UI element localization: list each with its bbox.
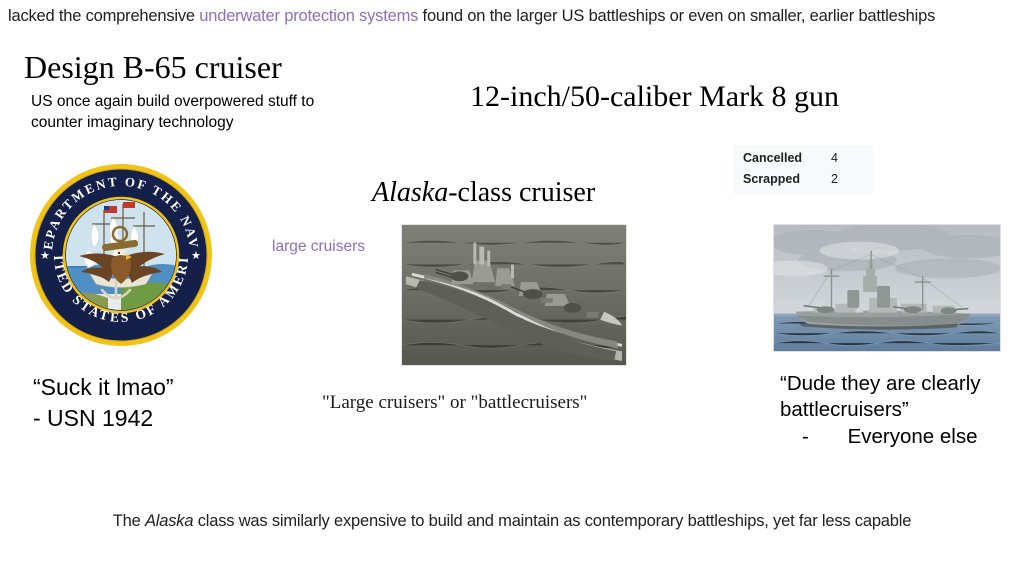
heading-alaska-italic: Alaska: [372, 177, 448, 208]
heading-alaska-rest: -class cruiser: [448, 177, 595, 208]
infobox-table: Cancelled 4 Scrapped 2: [733, 145, 873, 194]
photo-battlecruiser: [773, 224, 1001, 352]
table-row: Cancelled 4: [733, 148, 873, 169]
heading-mark8-gun: 12-inch/50-caliber Mark 8 gun: [470, 79, 839, 115]
wiki-excerpt-before: lacked the comprehensive: [8, 7, 199, 25]
caption-large-cruisers-or-battlecruisers: "Large cruisers" or "battlecruisers": [322, 391, 587, 415]
caption-everyone-else-quote: “Dude they are clearly battlecruisers” -…: [780, 371, 1020, 450]
heading-design-b65: Design B-65 cruiser: [24, 48, 282, 86]
infobox-label-cancelled: Cancelled: [743, 149, 831, 168]
everyone-quote-text: “Dude they are clearly battlecruisers”: [780, 371, 1020, 423]
infobox-value-cancelled: 4: [831, 149, 838, 168]
department-of-the-navy-seal: DEPARTMENT OF THE NAVY UNITED STATES OF …: [28, 162, 214, 348]
caption-usn-quote: “Suck it lmao” - USN 1942: [33, 372, 174, 434]
table-row: Scrapped 2: [733, 169, 873, 190]
infobox-value-scrapped: 2: [831, 170, 838, 189]
caption-bottom-wiki-line: The Alaska class was similarly expensive…: [0, 510, 1024, 532]
bottom-caption-before: The: [113, 512, 145, 530]
bottom-caption-italic: Alaska: [145, 512, 193, 530]
seal-star-right: ★: [191, 250, 201, 262]
meme-slide: lacked the comprehensive underwater prot…: [0, 0, 1024, 563]
heading-alaska-class-cruiser: Alaska-class cruiser: [372, 176, 595, 210]
underwater-protection-systems-link[interactable]: underwater protection systems: [199, 7, 418, 25]
bottom-caption-after: class was similarly expensive to build a…: [193, 512, 911, 530]
everyone-quote-attribution: - Everyone else: [780, 424, 1020, 450]
wiki-excerpt-line: lacked the comprehensive underwater prot…: [8, 6, 1020, 26]
infobox-label-scrapped: Scrapped: [743, 170, 831, 189]
photo-uss-alaska: [401, 224, 627, 366]
seal-star-left: ★: [40, 250, 50, 262]
large-cruisers-link[interactable]: large cruisers: [272, 237, 365, 257]
note-overpowered-stuff: US once again build overpowered stuff to…: [31, 92, 321, 133]
wiki-excerpt-after: found on the larger US battleships or ev…: [418, 7, 935, 25]
